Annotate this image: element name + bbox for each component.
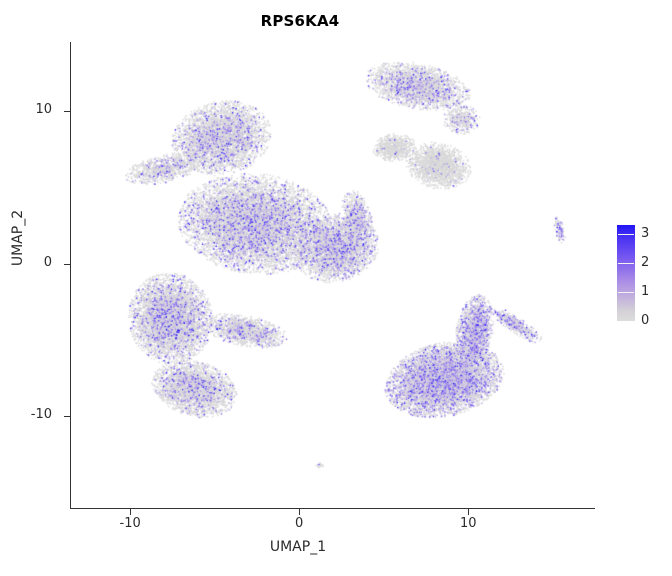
y-axis-tick xyxy=(64,416,70,417)
umap-scatter-canvas xyxy=(71,42,595,508)
y-axis-tick xyxy=(64,111,70,112)
x-axis-tick xyxy=(299,509,300,515)
expression-colorbar: 3 2 1 0 xyxy=(617,225,667,321)
x-axis-tick xyxy=(468,509,469,515)
x-axis-tick-label: 0 xyxy=(269,516,329,531)
x-axis-tick-label: 10 xyxy=(438,516,498,531)
colorbar-tick xyxy=(618,292,634,293)
chart-title: RPS6KA4 xyxy=(0,12,600,30)
colorbar-label: 1 xyxy=(641,285,649,298)
colorbar-label: 0 xyxy=(641,314,649,327)
scatter-plot-panel xyxy=(71,42,595,508)
y-axis-title: UMAP_2 xyxy=(10,168,26,308)
x-axis-line xyxy=(70,508,595,509)
x-axis-tick-label: -10 xyxy=(100,516,160,531)
y-axis-tick-label: -10 xyxy=(8,407,52,422)
colorbar-tick xyxy=(618,263,634,264)
y-axis-line xyxy=(70,42,71,509)
colorbar-label: 2 xyxy=(641,256,649,269)
colorbar-gradient xyxy=(617,225,635,321)
colorbar-tick xyxy=(618,234,634,235)
x-axis-title: UMAP_1 xyxy=(0,539,596,555)
colorbar-label: 3 xyxy=(641,227,649,240)
y-axis-tick xyxy=(64,264,70,265)
x-axis-tick xyxy=(130,509,131,515)
y-axis-tick-label: 10 xyxy=(8,102,52,117)
